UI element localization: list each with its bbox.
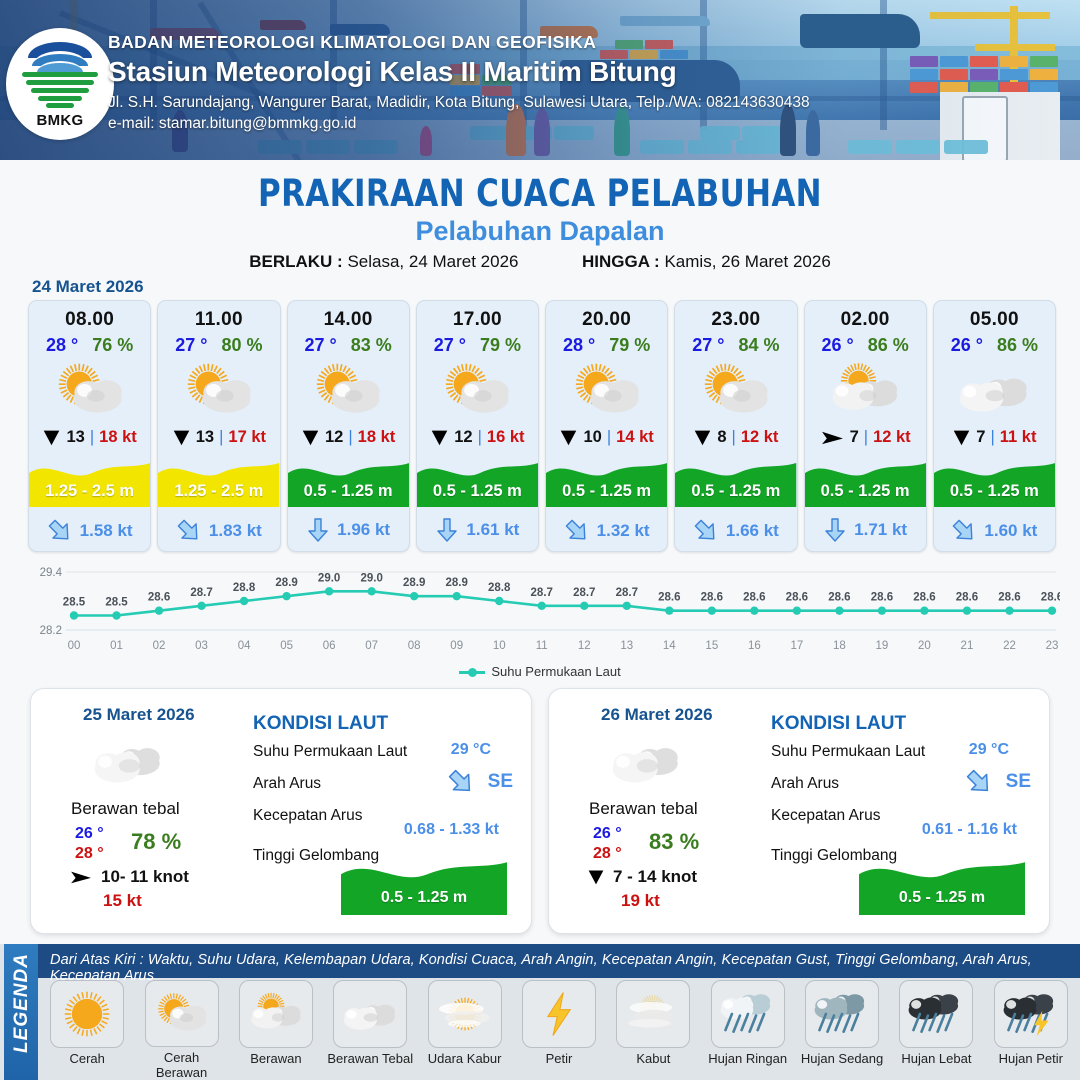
sst-chart: 29.428.228.50028.50128.60228.70328.80428… (22, 558, 1060, 678)
svg-text:21: 21 (961, 640, 974, 652)
sst-value: 29 °C (451, 741, 491, 759)
legend-item-label: Berawan Tebal (327, 1052, 413, 1066)
card-humidity: 79 % (609, 335, 650, 356)
hourly-card: 14.00 27 ° 83 % 12 | 18 kt 0.5 - 1.25 m … (287, 300, 410, 552)
weather-haze-icon (428, 980, 502, 1048)
current-speed-label: Kecepatan Arus (771, 807, 880, 825)
svg-text:28.6: 28.6 (148, 592, 170, 604)
sea-conditions-title: KONDISI LAUT (253, 713, 388, 735)
svg-text:10: 10 (493, 640, 506, 652)
panel-wind: 7 - 14 knot (613, 867, 697, 887)
bmkg-logo: BMKG (6, 28, 114, 140)
legend-items: Cerah Cerah Berawan Berawan (38, 980, 1080, 1080)
current-direction-arrow-icon (564, 519, 590, 543)
weather-sun-cloud-icon (29, 360, 150, 422)
card-gust: 11 kt (1000, 428, 1037, 447)
card-wave-height: 0.5 - 1.25 m (675, 482, 796, 501)
card-wave-height: 0.5 - 1.25 m (805, 482, 926, 501)
card-time: 08.00 (29, 309, 150, 331)
valid-to-value: Kamis, 26 Maret 2026 (664, 252, 830, 271)
current-speed-value: 0.61 - 1.16 kt (922, 821, 1017, 839)
card-wind-separator: | (478, 428, 482, 447)
weather-sun-cloud-icon (158, 360, 279, 422)
svg-text:07: 07 (365, 640, 378, 652)
weather-sun-cloud-icon (675, 360, 796, 422)
card-gust: 12 kt (873, 428, 911, 447)
weather-rain-heavy-icon (899, 980, 973, 1048)
panel-wave-value: 0.5 - 1.25 m (341, 889, 507, 907)
svg-text:28.6: 28.6 (871, 592, 893, 604)
svg-text:29.0: 29.0 (318, 572, 340, 584)
svg-text:15: 15 (705, 640, 718, 652)
panel-date: 26 Maret 2026 (601, 705, 713, 725)
panel-condition: Berawan tebal (589, 799, 779, 819)
card-humidity: 79 % (480, 335, 521, 356)
wind-direction-arrow-icon (559, 428, 578, 447)
card-current-speed: 1.60 kt (984, 521, 1037, 541)
hourly-forecast-cards: 08.00 28 ° 76 % 13 | 18 kt 1.25 - 2.5 m … (28, 300, 1056, 552)
card-temperature: 28 ° (563, 335, 595, 356)
hourly-card: 02.00 26 ° 86 % 7 | 12 kt 0.5 - 1.25 m (804, 300, 927, 552)
wind-direction-arrow-icon (587, 868, 605, 886)
card-wind-separator: | (990, 428, 994, 447)
legend-side-label: LEGENDA (11, 949, 33, 1057)
card-time: 17.00 (417, 309, 538, 331)
logo-waves-icon (22, 72, 98, 110)
weather-clouds-icon (333, 980, 407, 1048)
panel-temp-min: 26 ° (75, 825, 104, 843)
card-humidity: 80 % (221, 335, 262, 356)
legend-side-title: LEGENDA (4, 944, 38, 1080)
svg-text:11: 11 (536, 640, 548, 652)
panel-temp-max: 28 ° (75, 845, 104, 863)
card-humidity: 83 % (351, 335, 392, 356)
card-current-speed: 1.61 kt (466, 520, 519, 540)
card-wind-separator: | (864, 428, 868, 447)
card-temperature: 27 ° (434, 335, 466, 356)
card-humidity: 86 % (997, 335, 1038, 356)
card-gust: 12 kt (741, 428, 779, 447)
card-wind-separator: | (607, 428, 611, 447)
weather-cloud-thick-icon (89, 737, 185, 789)
weather-bolt-icon (522, 980, 596, 1048)
card-wind-speed: 12 (454, 428, 472, 447)
svg-text:28.8: 28.8 (233, 582, 256, 594)
legend-item-label: Cerah Berawan (138, 1051, 224, 1080)
hourly-card: 05.00 26 ° 86 % 7 | 11 kt 0.5 - 1.25 m 1… (933, 300, 1056, 552)
card-time: 11.00 (158, 309, 279, 331)
card-temperature: 28 ° (46, 335, 78, 356)
panel-wave-band: 0.5 - 1.25 m (859, 855, 1025, 915)
valid-to-label: HINGGA : (582, 252, 660, 271)
station-email: e-mail: stamar.bitung@bmmkg.go.id (108, 115, 1008, 133)
card-gust: 17 kt (228, 428, 266, 447)
weather-sun-cloud-icon (288, 360, 409, 422)
card-temperature: 26 ° (951, 335, 983, 356)
legend-item-label: Hujan Lebat (901, 1052, 971, 1066)
legend-item: Petir (516, 980, 602, 1080)
panel-wave-value: 0.5 - 1.25 m (859, 889, 1025, 907)
svg-text:12: 12 (578, 640, 591, 652)
weather-rain-light-icon (711, 980, 785, 1048)
svg-text:18: 18 (833, 640, 846, 652)
legend-item: Berawan (233, 980, 319, 1080)
wind-direction-arrow-icon (693, 428, 712, 447)
svg-text:28.9: 28.9 (403, 577, 425, 589)
current-direction-arrow-icon (951, 519, 977, 543)
legend-section: LEGENDA Dari Atas Kiri : Waktu, Suhu Uda… (0, 944, 1080, 1080)
legend-label: Suhu Permukaan Laut (491, 664, 620, 679)
weather-sun-clouds-icon (805, 360, 926, 422)
current-direction-label: Arah Arus (253, 775, 321, 793)
svg-text:28.6: 28.6 (1041, 592, 1060, 604)
page-header: BMKG BADAN METEOROLOGI KLIMATOLOGI DAN G… (0, 0, 1080, 160)
legend-marker-icon (459, 671, 485, 674)
card-time: 02.00 (805, 309, 926, 331)
svg-text:01: 01 (110, 640, 123, 652)
card-humidity: 84 % (738, 335, 779, 356)
card-current-speed: 1.58 kt (80, 521, 133, 541)
validity-line: BERLAKU : Selasa, 24 Maret 2026 HINGGA :… (0, 252, 1080, 272)
panel-date: 25 Maret 2026 (83, 705, 195, 725)
sst-label: Suhu Permukaan Laut (771, 743, 925, 761)
hourly-date-label: 24 Maret 2026 (32, 277, 144, 297)
weather-sun-cloud-icon (546, 360, 667, 422)
card-wave-band: 0.5 - 1.25 m (805, 457, 926, 507)
weather-sun-icon (50, 980, 124, 1048)
wind-direction-arrow-icon (42, 428, 61, 447)
svg-text:13: 13 (620, 640, 633, 652)
svg-text:28.6: 28.6 (998, 592, 1020, 604)
station-address: Jl. S.H. Sarundajang, Wangurer Barat, Ma… (108, 94, 1008, 112)
panel-gust: 19 kt (621, 891, 660, 911)
card-wave-height: 1.25 - 2.5 m (29, 482, 150, 501)
card-time: 14.00 (288, 309, 409, 331)
hourly-card: 11.00 27 ° 80 % 13 | 17 kt 1.25 - 2.5 m … (157, 300, 280, 552)
legend-item: Hujan Ringan (705, 980, 791, 1080)
svg-text:16: 16 (748, 640, 761, 652)
legend-item: Udara Kabur (421, 980, 507, 1080)
svg-text:02: 02 (153, 640, 166, 652)
sst-value: 29 °C (969, 741, 1009, 759)
hourly-card: 20.00 28 ° 79 % 10 | 14 kt 0.5 - 1.25 m … (545, 300, 668, 552)
current-speed-label: Kecepatan Arus (253, 807, 362, 825)
panel-condition: Berawan tebal (71, 799, 261, 819)
svg-text:28.6: 28.6 (701, 592, 723, 604)
svg-text:03: 03 (195, 640, 208, 652)
card-wind-speed: 13 (196, 428, 214, 447)
card-wave-height: 0.5 - 1.25 m (934, 482, 1055, 501)
legend-item: Berawan Tebal (327, 980, 413, 1080)
weather-rain-mid-icon (805, 980, 879, 1048)
svg-text:17: 17 (790, 640, 803, 652)
legend-item-label: Hujan Ringan (708, 1052, 787, 1066)
svg-text:28.7: 28.7 (531, 587, 553, 599)
panel-wave-band: 0.5 - 1.25 m (341, 855, 507, 915)
svg-text:28.5: 28.5 (105, 597, 128, 609)
current-direction-value: SE (488, 771, 513, 793)
card-current-speed: 1.66 kt (726, 521, 779, 541)
agency-name: BADAN METEOROLOGI KLIMATOLOGI DAN GEOFIS… (108, 32, 1008, 53)
current-direction-arrow-icon (47, 519, 73, 543)
card-wind-speed: 10 (583, 428, 601, 447)
card-gust: 18 kt (358, 428, 396, 447)
wind-direction-arrow-icon (952, 428, 971, 447)
svg-text:20: 20 (918, 640, 931, 652)
card-wind-separator: | (732, 428, 736, 447)
wind-direction-arrow-icon (301, 428, 320, 447)
legend-item: Cerah Berawan (138, 980, 224, 1080)
svg-text:06: 06 (323, 640, 336, 652)
svg-text:28.7: 28.7 (616, 587, 638, 599)
card-gust: 16 kt (487, 428, 525, 447)
legend-item: Cerah (44, 980, 130, 1080)
valid-from-label: BERLAKU : (249, 252, 343, 271)
card-gust: 14 kt (616, 428, 654, 447)
svg-text:19: 19 (876, 640, 889, 652)
card-wave-band: 0.5 - 1.25 m (417, 457, 538, 507)
hourly-card: 23.00 27 ° 84 % 8 | 12 kt 0.5 - 1.25 m 1… (674, 300, 797, 552)
card-wave-band: 1.25 - 2.5 m (29, 457, 150, 507)
card-wave-band: 0.5 - 1.25 m (675, 457, 796, 507)
weather-sun-clouds-icon (239, 980, 313, 1048)
svg-text:28.6: 28.6 (956, 592, 978, 604)
legend-item-label: Hujan Petir (999, 1052, 1063, 1066)
legend-item-label: Hujan Sedang (801, 1052, 883, 1066)
sst-label: Suhu Permukaan Laut (253, 743, 407, 761)
svg-text:23: 23 (1046, 640, 1059, 652)
hourly-card: 08.00 28 ° 76 % 13 | 18 kt 1.25 - 2.5 m … (28, 300, 151, 552)
card-temperature: 27 ° (692, 335, 724, 356)
card-wave-band: 0.5 - 1.25 m (934, 457, 1055, 507)
card-wave-height: 0.5 - 1.25 m (417, 482, 538, 501)
panel-wind: 10- 11 knot (101, 867, 189, 887)
panel-humidity: 83 % (649, 829, 699, 855)
current-direction-arrow-icon (823, 517, 847, 543)
legend-item-label: Cerah (69, 1052, 104, 1066)
card-humidity: 86 % (868, 335, 909, 356)
wind-direction-arrow-icon (820, 428, 845, 447)
wind-direction-arrow-icon (172, 428, 191, 447)
valid-from-value: Selasa, 24 Maret 2026 (347, 252, 518, 271)
card-current-speed: 1.32 kt (597, 521, 650, 541)
svg-text:08: 08 (408, 640, 421, 652)
svg-text:28.9: 28.9 (275, 577, 297, 589)
header-text-block: BADAN METEOROLOGI KLIMATOLOGI DAN GEOFIS… (108, 32, 1008, 133)
legend-item-label: Berawan (250, 1052, 301, 1066)
panel-gust: 15 kt (103, 891, 142, 911)
current-speed-value: 0.68 - 1.33 kt (404, 821, 499, 839)
daily-panel: 25 Maret 2026 Berawan tebal 26 ° 28 ° 78… (30, 688, 532, 934)
svg-text:28.6: 28.6 (828, 592, 850, 604)
weather-cloud-thick-icon (607, 737, 703, 789)
panel-temp-min: 26 ° (593, 825, 622, 843)
current-direction-arrow-icon (447, 769, 475, 795)
card-wave-height: 1.25 - 2.5 m (158, 482, 279, 501)
svg-text:28.6: 28.6 (913, 592, 935, 604)
card-wind-separator: | (90, 428, 94, 447)
svg-text:28.6: 28.6 (658, 592, 680, 604)
card-wave-band: 0.5 - 1.25 m (546, 457, 667, 507)
weather-rain-storm-icon (994, 980, 1068, 1048)
svg-text:05: 05 (280, 640, 293, 652)
card-time: 23.00 (675, 309, 796, 331)
legend-note-bar: Dari Atas Kiri : Waktu, Suhu Udara, Kele… (38, 944, 1080, 978)
card-temperature: 27 ° (304, 335, 336, 356)
svg-text:28.2: 28.2 (40, 625, 62, 637)
svg-text:29.0: 29.0 (360, 572, 382, 584)
card-time: 05.00 (934, 309, 1055, 331)
wind-direction-arrow-icon (69, 868, 93, 886)
svg-text:28.8: 28.8 (488, 582, 511, 594)
daily-panel: 26 Maret 2026 Berawan tebal 26 ° 28 ° 83… (548, 688, 1050, 934)
card-current-speed: 1.96 kt (337, 520, 390, 540)
card-wave-height: 0.5 - 1.25 m (546, 482, 667, 501)
wind-direction-arrow-icon (430, 428, 449, 447)
weather-sun-cloud-icon (417, 360, 538, 422)
legend-item: Kabut (610, 980, 696, 1080)
panel-humidity: 78 % (131, 829, 181, 855)
svg-text:28.9: 28.9 (446, 577, 468, 589)
current-direction-label: Arah Arus (771, 775, 839, 793)
legend-item: Hujan Petir (988, 980, 1074, 1080)
card-wind-speed: 8 (717, 428, 726, 447)
svg-text:09: 09 (450, 640, 463, 652)
card-current-speed: 1.71 kt (854, 520, 907, 540)
current-direction-arrow-icon (306, 517, 330, 543)
card-current-speed: 1.83 kt (209, 521, 262, 541)
chart-legend: Suhu Permukaan Laut (0, 664, 1080, 679)
weather-sun-cloud-icon (145, 980, 219, 1047)
svg-text:14: 14 (663, 640, 676, 652)
card-wave-height: 0.5 - 1.25 m (288, 482, 409, 501)
legend-item-label: Kabut (636, 1052, 670, 1066)
card-wave-band: 1.25 - 2.5 m (158, 457, 279, 507)
current-direction-arrow-icon (965, 769, 993, 795)
card-humidity: 76 % (92, 335, 133, 356)
station-name: Stasiun Meteorologi Kelas II Maritim Bit… (108, 56, 1008, 88)
svg-text:28.6: 28.6 (743, 592, 765, 604)
svg-text:22: 22 (1003, 640, 1016, 652)
legend-item: Hujan Lebat (893, 980, 979, 1080)
card-wind-speed: 7 (850, 428, 859, 447)
current-direction-arrow-icon (693, 519, 719, 543)
current-direction-arrow-icon (435, 517, 459, 543)
legend-item-label: Udara Kabur (428, 1052, 502, 1066)
svg-text:04: 04 (238, 640, 251, 652)
daily-forecast-panels: 25 Maret 2026 Berawan tebal 26 ° 28 ° 78… (30, 688, 1050, 934)
current-direction-arrow-icon (176, 519, 202, 543)
svg-text:28.7: 28.7 (190, 587, 212, 599)
panel-temp-max: 28 ° (593, 845, 622, 863)
svg-text:28.5: 28.5 (63, 597, 86, 609)
card-gust: 18 kt (99, 428, 137, 447)
page-subtitle: Pelabuhan Dapalan (0, 216, 1080, 247)
card-temperature: 26 ° (821, 335, 853, 356)
current-direction-value: SE (1006, 771, 1031, 793)
logo-arcs-icon (28, 42, 92, 70)
svg-text:00: 00 (68, 640, 81, 652)
legend-item: Hujan Sedang (799, 980, 885, 1080)
svg-text:28.7: 28.7 (573, 587, 595, 599)
hourly-card: 17.00 27 ° 79 % 12 | 16 kt 0.5 - 1.25 m … (416, 300, 539, 552)
card-temperature: 27 ° (175, 335, 207, 356)
weather-fog-icon (616, 980, 690, 1048)
card-wind-separator: | (348, 428, 352, 447)
card-wave-band: 0.5 - 1.25 m (288, 457, 409, 507)
page-title: PRAKIRAAN CUACA PELABUHAN (38, 172, 1042, 215)
card-wind-speed: 12 (325, 428, 343, 447)
svg-text:29.4: 29.4 (40, 567, 63, 579)
weather-clouds-icon (934, 360, 1055, 422)
svg-text:28.6: 28.6 (786, 592, 808, 604)
card-wind-speed: 13 (66, 428, 84, 447)
card-time: 20.00 (546, 309, 667, 331)
legend-item-label: Petir (546, 1052, 573, 1066)
card-wind-separator: | (219, 428, 223, 447)
sea-conditions-title: KONDISI LAUT (771, 713, 906, 735)
card-wind-speed: 7 (976, 428, 985, 447)
logo-label: BMKG (6, 112, 114, 129)
